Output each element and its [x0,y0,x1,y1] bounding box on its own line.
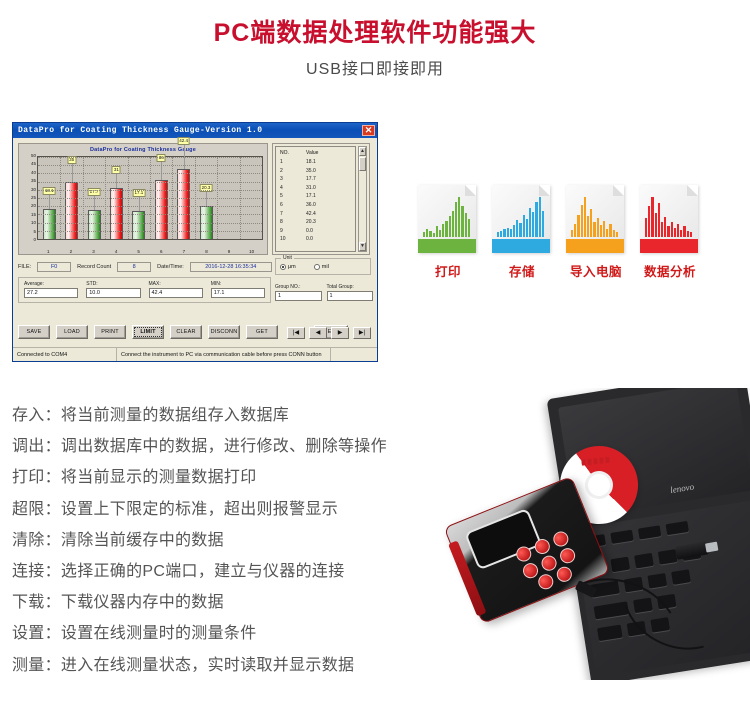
chart-gridline [240,157,241,239]
chart-gridline [105,157,106,239]
feature-card: 数据分析 [640,185,700,280]
value-list-no: 5 [280,192,306,201]
product-photo: lenovo [440,388,750,680]
print-button[interactable]: PRINT [94,325,126,339]
scrollbar-thumb[interactable] [359,157,366,171]
unit-radio-label: μm [288,264,296,270]
datetime-label: Date/Time: [157,264,184,270]
chart-gridline [150,157,151,239]
file-label: FILE: [18,264,31,270]
value-list-row[interactable]: 742.4 [280,210,351,219]
chart-bar-label: 18.1 [43,187,56,195]
last-record-button[interactable]: ▶| [353,327,371,339]
chart-gridline [83,157,84,239]
datapro-software-window: DataPro for Coating Thickness Gauge-Vers… [12,122,378,362]
x-axis-tick: 8 [195,250,218,258]
chart-gridline [128,157,129,239]
document-chart-icon [640,185,698,253]
value-list-no: 3 [280,175,306,184]
x-axis-tick: 9 [218,250,241,258]
value-list-no: 7 [280,210,306,219]
statistic-field: STD:10.0 [86,281,140,298]
statistic-label: Average: [24,281,78,287]
document-chart-icon [418,185,476,253]
column-header-no: NO. [280,150,306,156]
feature-description-line: 下载：下载仪器内存中的数据 [12,587,442,618]
plot-wrapper: 05101520253035404550 18.13517.73117.1364… [24,156,263,250]
value-list-row[interactable]: 118.1 [280,158,351,167]
statistic-value[interactable]: 10.0 [86,288,140,298]
x-axis-tick: 5 [127,250,150,258]
feature-description-list: 存入：将当前测量的数据组存入数据库调出：调出数据库中的数据，进行修改、删除等操作… [12,400,442,681]
record-count-value: 8 [117,262,151,272]
icon-color-strip [640,239,698,253]
y-axis-tick: 15 [31,213,36,218]
y-axis-tick: 40 [31,171,36,176]
value-list-value: 36.0 [306,201,316,210]
y-axis-tick: 25 [31,196,36,201]
value-list-header: NO. Value [280,150,351,156]
feature-description-line: 调出：调出数据库中的数据，进行修改、删除等操作 [12,431,442,462]
close-icon[interactable]: ✕ [362,125,375,136]
feature-card: 打印 [418,185,478,280]
value-list-no: 6 [280,201,306,210]
y-axis-tick: 50 [31,154,36,159]
icon-color-strip [566,239,624,253]
document-chart-icon [566,185,624,253]
feature-card-label: 打印 [418,261,478,280]
statistic-field: MAX:42.4 [149,281,203,298]
page-header: PC端数据处理软件功能强大 USB接口即接即用 [0,0,750,79]
value-list-row[interactable]: 517.1 [280,192,351,201]
status-connection: Connected to COM4 [13,348,117,361]
y-axis-tick: 45 [31,162,36,167]
chart-gridline [217,157,218,239]
group-fields: Group NO.:1Total Group:1 [275,284,373,301]
save-button[interactable]: SAVE [18,325,50,339]
y-axis-tick: 30 [31,187,36,192]
radio-icon[interactable] [314,264,320,270]
value-list-value: 17.1 [306,192,316,201]
value-list-value: 18.1 [306,158,316,167]
feature-description-line: 超限：设置上下限定的标准，超出则报警显示 [12,494,442,525]
prev-record-button[interactable]: ◀ [309,327,327,339]
value-list-no: 9 [280,227,306,236]
get-button[interactable]: GET [246,325,278,339]
group-field-value[interactable]: 1 [275,291,322,301]
feature-card: 导入电脑 [566,185,626,280]
y-axis-tick: 5 [33,229,36,234]
record-navigation: |◀◀▶▶| [287,327,371,339]
value-list-no: 8 [280,218,306,227]
disconn-button[interactable]: DISCONN [208,325,240,339]
document-chart-icon [492,185,550,253]
x-axis-tick: 2 [60,250,83,258]
scroll-up-icon[interactable]: ▲ [359,147,366,156]
chart-y-axis: 05101520253035404550 [24,156,37,240]
group-field-label: Group NO.: [275,284,322,290]
value-list-scrollbar[interactable]: ▲ ▼ [358,146,367,252]
chart-gridline [172,157,173,239]
value-list-row[interactable]: 820.3 [280,218,351,227]
unit-legend: Unit [281,255,294,261]
value-list-panel: NO. Value 118.1235.0317.7431.0517.1636.0… [272,143,370,255]
value-list-value: 35.0 [306,167,316,176]
next-record-button[interactable]: ▶ [331,327,349,339]
thickness-chart: DataPro for Coating Thickness Gauge 0510… [18,143,268,255]
value-list-no: 2 [280,167,306,176]
value-list-value: 0.0 [306,227,313,236]
feature-description-line: 存入：将当前测量的数据组存入数据库 [12,400,442,431]
x-axis-tick: 3 [82,250,105,258]
feature-icon-cards: 打印存储导入电脑数据分析 [418,185,700,280]
clear-button[interactable]: CLEAR [170,325,202,339]
first-record-button[interactable]: |◀ [287,327,305,339]
value-list-value: 20.3 [306,218,316,227]
scroll-down-icon[interactable]: ▼ [359,242,366,251]
chart-gridline [195,157,196,239]
window-body: DataPro for Coating Thickness Gauge 0510… [13,138,377,361]
value-list-no: 1 [280,158,306,167]
column-header-value: Value [306,150,318,156]
icon-bars [571,197,618,237]
chart-bar-label: 42.4 [177,137,190,145]
feature-description-line: 连接：选择正确的PC端口，建立与仪器的连接 [12,556,442,587]
icon-color-strip [418,239,476,253]
icon-bars [645,197,692,237]
feature-description-line: 清除：清除当前缓存中的数据 [12,525,442,556]
y-axis-tick: 10 [31,221,36,226]
page-subtitle: USB接口即接即用 [0,55,750,79]
value-list-no: 10 [280,235,306,244]
statistic-field: Average:27.2 [24,281,78,298]
icon-bars [497,197,544,237]
x-axis-tick: 1 [37,250,60,258]
value-list-row[interactable]: 431.0 [280,184,351,193]
value-list-value: 42.4 [306,210,316,219]
file-value: F0 [37,262,71,272]
feature-card-label: 导入电脑 [566,261,626,280]
page-title: PC端数据处理软件功能强大 [0,18,750,49]
value-list-row[interactable]: 317.7 [280,175,351,184]
window-titlebar: DataPro for Coating Thickness Gauge-Vers… [13,123,377,138]
statistic-field: MIN:17.1 [211,281,265,298]
chart-title: DataPro for Coating Thickness Gauge [19,144,267,153]
x-axis-tick: 7 [173,250,196,258]
value-list-no: 4 [280,184,306,193]
window-title: DataPro for Coating Thickness Gauge-Vers… [18,126,262,135]
chart-and-list-row: DataPro for Coating Thickness Gauge 0510… [18,143,372,255]
feature-description-line: 测量：进入在线测量状态，实时读取并显示数据 [12,650,442,681]
statistic-value[interactable]: 42.4 [149,288,203,298]
group-field: Total Group:1 [327,284,374,301]
y-axis-tick: 0 [33,238,36,243]
status-bar: Connected to COM4 Connect the instrument… [13,347,377,361]
y-axis-tick: 35 [31,179,36,184]
statistic-value[interactable]: 27.2 [24,288,78,298]
record-count-label: Record Count [77,264,111,270]
value-list-value: 17.7 [306,175,316,184]
unit-radio-option[interactable]: μm [280,264,296,270]
group-field-label: Total Group: [327,284,374,290]
unit-radio-option[interactable]: mil [314,264,329,270]
value-list-value: 31.0 [306,184,316,193]
feature-card-label: 存储 [492,261,552,280]
feature-description-line: 设置：设置在线测量时的测量条件 [12,618,442,649]
chart-gridline [60,157,61,239]
chart-plot-area: 18.13517.73117.13642.420.3 [37,156,263,240]
statistics-group: Average:27.2STD:10.0MAX:42.4MIN:17.1 [18,277,271,303]
cd-logo [581,457,611,466]
x-axis-tick: 6 [150,250,173,258]
value-list-row[interactable]: 636.0 [280,201,351,210]
chart-bar [177,169,190,239]
statistic-label: STD: [86,281,140,287]
chart-bar-stem [139,197,140,211]
group-field-value[interactable]: 1 [327,291,374,301]
chart-x-axis: 12345678910 [37,250,263,258]
value-list-row[interactable]: 100.0 [280,235,351,244]
value-list-row[interactable]: 235.0 [280,167,351,176]
unit-group: Unit μmmil [275,258,371,275]
status-hint: Connect the instrument to PC via communi… [117,348,331,361]
group-field: Group NO.:1 [275,284,322,301]
statistic-label: MAX: [149,281,203,287]
x-axis-tick: 4 [105,250,128,258]
unit-radio-label: mil [322,264,329,270]
feature-card-label: 数据分析 [640,261,700,280]
feature-card: 存储 [492,185,552,280]
limit-button[interactable]: LIMIT [132,325,164,339]
status-extra [331,348,377,361]
radio-icon[interactable] [280,264,286,270]
value-list-value: 0.0 [306,235,313,244]
load-button[interactable]: LOAD [56,325,88,339]
x-axis-tick: 10 [240,250,263,258]
statistic-label: MIN: [211,281,265,287]
feature-description-line: 打印：将当前显示的测量数据打印 [12,462,442,493]
icon-bars [423,197,470,237]
statistic-value[interactable]: 17.1 [211,288,265,298]
value-list-row[interactable]: 90.0 [280,227,351,236]
datetime-value: 2016-12-28 16:35:34 [190,262,272,272]
value-list[interactable]: NO. Value 118.1235.0317.7431.0517.1636.0… [275,146,356,252]
y-axis-tick: 20 [31,204,36,209]
icon-color-strip [492,239,550,253]
